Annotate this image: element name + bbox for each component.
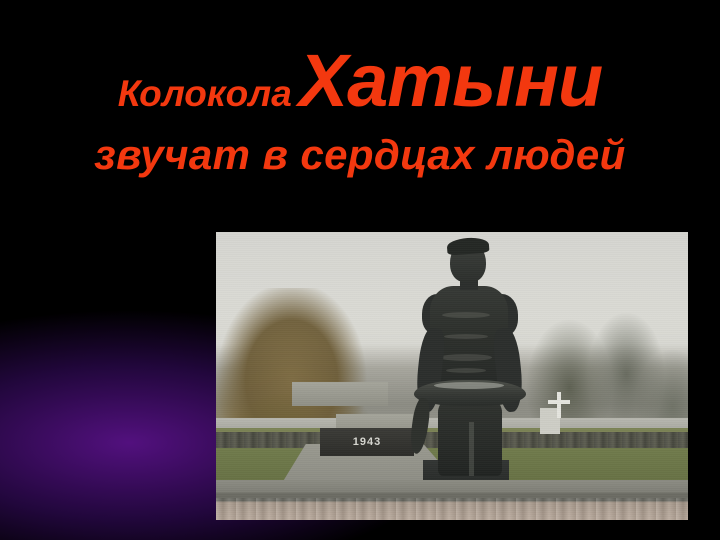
title-line-2: звучат в сердцах людей [0, 134, 720, 176]
khatyn-memorial-photo: 1943 [216, 232, 688, 520]
memorial-cross-icon [546, 392, 572, 418]
memorial-slab [292, 382, 388, 406]
memorial-plaque: 1943 [320, 428, 414, 456]
child-leg [408, 397, 432, 455]
statue-leg-gap [469, 422, 474, 476]
title-line-1: КолоколаХатыни [0, 44, 720, 118]
presentation-slide: КолоколаХатыни звучат в сердцах людей 19… [0, 0, 720, 540]
child-highlight [434, 382, 504, 389]
plaque-inscription: 1943 [353, 436, 381, 448]
slide-title: КолоколаХатыни звучат в сердцах людей [0, 44, 720, 176]
title-word-hatyni: Хатыни [292, 39, 602, 122]
statue-fold [440, 354, 492, 361]
unbowed-man-statue [412, 242, 532, 490]
statue-fold [442, 312, 490, 318]
statue-fold [446, 368, 486, 373]
foreground-steps-texture [216, 498, 688, 520]
title-word-kolokola: Колокола [118, 73, 292, 114]
statue-fold [444, 334, 488, 339]
